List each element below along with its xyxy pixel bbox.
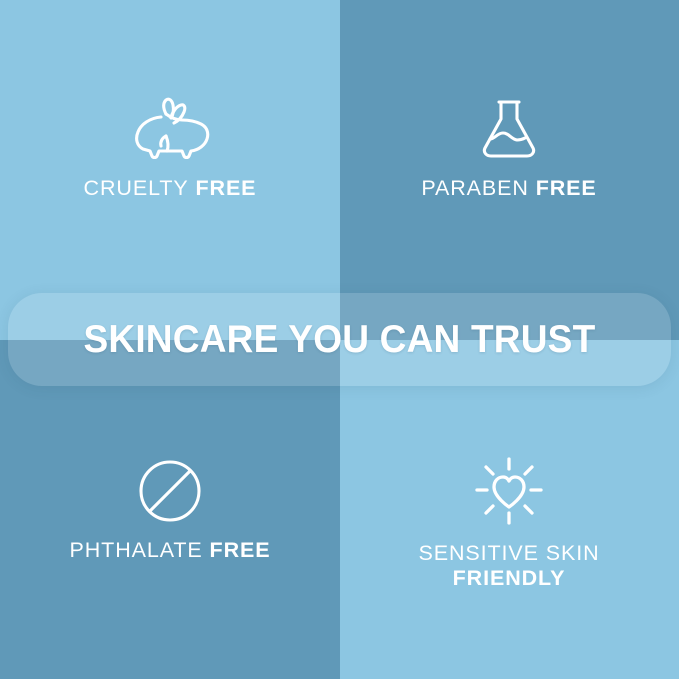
badge-label-light: PARABEN: [421, 176, 528, 200]
badge-label-light: CRUELTY: [84, 176, 189, 200]
badge-label-bold: FREE: [195, 176, 256, 200]
badge-label-light: SENSITIVE SKIN: [418, 541, 599, 565]
rabbit-icon: [120, 96, 220, 162]
heart-sun-icon: [472, 455, 546, 527]
badge-phthalate-free: PHTHALATE FREE: [0, 458, 340, 563]
flask-icon: [473, 96, 545, 162]
badge-cruelty-free: CRUELTY FREE: [0, 96, 340, 201]
product-claims-graphic: CRUELTY FREE PARABEN FREE PH: [0, 0, 679, 679]
badge-label-bold: FRIENDLY: [418, 566, 599, 591]
badge-caption: CRUELTY FREE: [84, 176, 257, 201]
badge-caption: SENSITIVE SKIN FRIENDLY: [418, 541, 599, 592]
badge-paraben-free: PARABEN FREE: [339, 96, 679, 201]
badge-label-bold: FREE: [536, 176, 597, 200]
badge-label-bold: FREE: [210, 538, 271, 562]
center-banner: SKINCARE YOU CAN TRUST: [8, 293, 671, 386]
banner-title: SKINCARE YOU CAN TRUST: [84, 318, 596, 362]
badge-label-light: PHTHALATE: [70, 538, 203, 562]
badge-caption: PHTHALATE FREE: [70, 538, 271, 563]
prohibition-icon: [137, 458, 203, 524]
badge-sensitive-skin-friendly: SENSITIVE SKIN FRIENDLY: [339, 455, 679, 592]
badge-caption: PARABEN FREE: [421, 176, 596, 201]
